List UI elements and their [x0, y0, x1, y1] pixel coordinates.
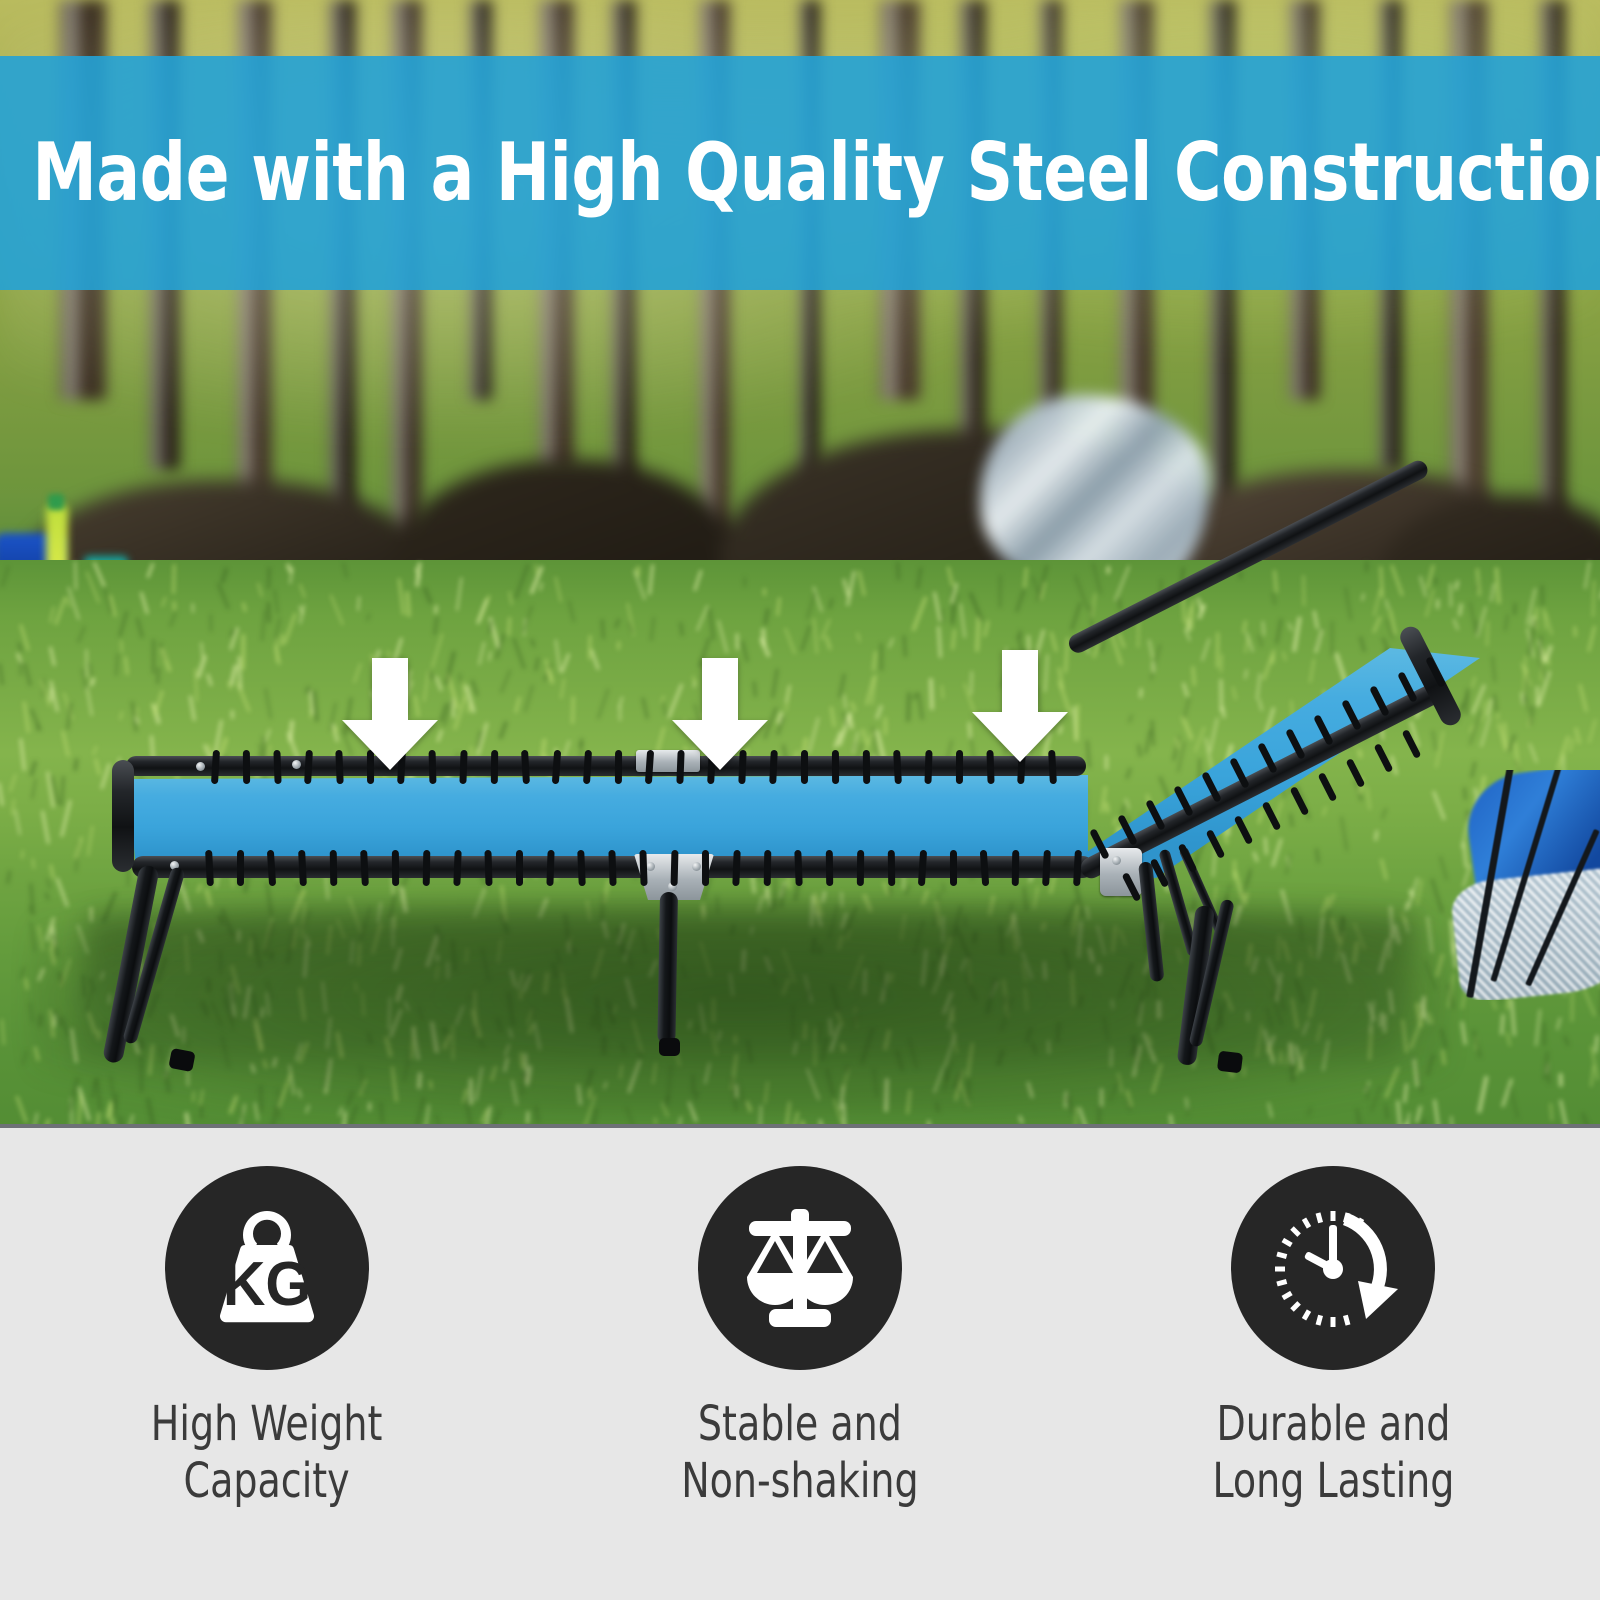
- feature-label-line2: Long Lasting: [1212, 1453, 1454, 1510]
- lace: [794, 850, 802, 886]
- rivet: [692, 862, 701, 871]
- left-end-rail: [112, 760, 134, 872]
- lace: [893, 750, 902, 784]
- lace: [1402, 729, 1422, 759]
- feature-stable-non-shaking: Stable and Non-shaking: [570, 1166, 1030, 1509]
- lace: [639, 850, 647, 886]
- lace: [453, 850, 461, 886]
- lace: [918, 850, 927, 886]
- lace: [577, 850, 586, 886]
- feature-label: Durable and Long Lasting: [1212, 1396, 1454, 1509]
- rivet: [292, 760, 301, 769]
- lace: [801, 750, 808, 784]
- kg-weight-icon: KG: [200, 1201, 334, 1335]
- lace: [1290, 786, 1310, 816]
- lace: [956, 750, 963, 784]
- clock-arrow-icon: [1262, 1197, 1404, 1339]
- lace: [546, 850, 554, 886]
- feature-durable-long-lasting: Durable and Long Lasting: [1103, 1166, 1563, 1509]
- center-foot: [659, 1038, 680, 1056]
- lace: [1012, 850, 1020, 886]
- arrow-right: [972, 650, 1068, 762]
- rivet: [1112, 856, 1121, 865]
- product-feature-graphic: Made with a High Quality Steel Construct…: [0, 0, 1600, 1600]
- arrow-left: [342, 658, 438, 770]
- feature-label-line2: Capacity: [151, 1453, 383, 1510]
- front-foot: [168, 1048, 195, 1072]
- balance-scale-icon-circle: [698, 1166, 902, 1370]
- lace: [1318, 772, 1338, 802]
- lace: [1346, 758, 1366, 788]
- clock-arrow-icon-circle: [1231, 1166, 1435, 1370]
- lace: [950, 850, 957, 886]
- lace: [924, 750, 932, 784]
- seat-top-rail: [126, 756, 1086, 776]
- lace: [491, 750, 498, 784]
- lace: [863, 750, 870, 784]
- feature-list: KG High Weight Capacity: [0, 1128, 1600, 1600]
- lace: [615, 750, 622, 784]
- lace: [1042, 850, 1051, 886]
- lace: [1234, 815, 1254, 845]
- lace: [857, 850, 864, 886]
- rivet: [646, 862, 655, 871]
- rear-foot: [1217, 1051, 1243, 1074]
- lace: [423, 850, 431, 886]
- feature-label-line1: High Weight: [151, 1396, 383, 1453]
- svg-text:KG: KG: [222, 1249, 310, 1319]
- feature-label: Stable and Non-shaking: [681, 1396, 918, 1509]
- lace: [243, 750, 250, 784]
- lace: [826, 850, 833, 886]
- lace: [702, 850, 709, 886]
- lace: [484, 850, 492, 886]
- feature-footer: KG High Weight Capacity: [0, 1128, 1600, 1600]
- lace: [392, 850, 399, 886]
- lace: [516, 850, 523, 886]
- lace: [521, 750, 530, 784]
- lace: [671, 850, 679, 886]
- lace: [732, 850, 740, 886]
- headline-banner: Made with a High Quality Steel Construct…: [0, 56, 1600, 290]
- lace: [459, 750, 467, 784]
- feature-label: High Weight Capacity: [151, 1396, 383, 1509]
- lace: [330, 850, 338, 886]
- lace: [832, 750, 839, 784]
- sun-lounger: [0, 600, 1600, 1100]
- feature-label-line2: Non-shaking: [681, 1453, 918, 1510]
- kg-weight-icon-circle: KG: [165, 1166, 369, 1370]
- bottle-cap: [48, 494, 64, 510]
- arrow-center: [672, 658, 768, 770]
- lace: [1374, 743, 1394, 773]
- feature-label-line1: Stable and: [681, 1396, 918, 1453]
- center-leg: [657, 892, 678, 1044]
- lace: [237, 850, 244, 886]
- lace: [1262, 801, 1282, 831]
- lace: [1073, 850, 1082, 886]
- page-title: Made with a High Quality Steel Construct…: [0, 133, 1505, 213]
- lace: [888, 850, 896, 886]
- feature-label-line1: Durable and: [1212, 1396, 1454, 1453]
- balance-scale-icon: [733, 1201, 867, 1335]
- lace: [608, 850, 616, 886]
- rivet: [196, 762, 205, 771]
- lace: [764, 850, 772, 886]
- feature-high-weight-capacity: KG High Weight Capacity: [37, 1166, 497, 1509]
- lace: [273, 750, 281, 784]
